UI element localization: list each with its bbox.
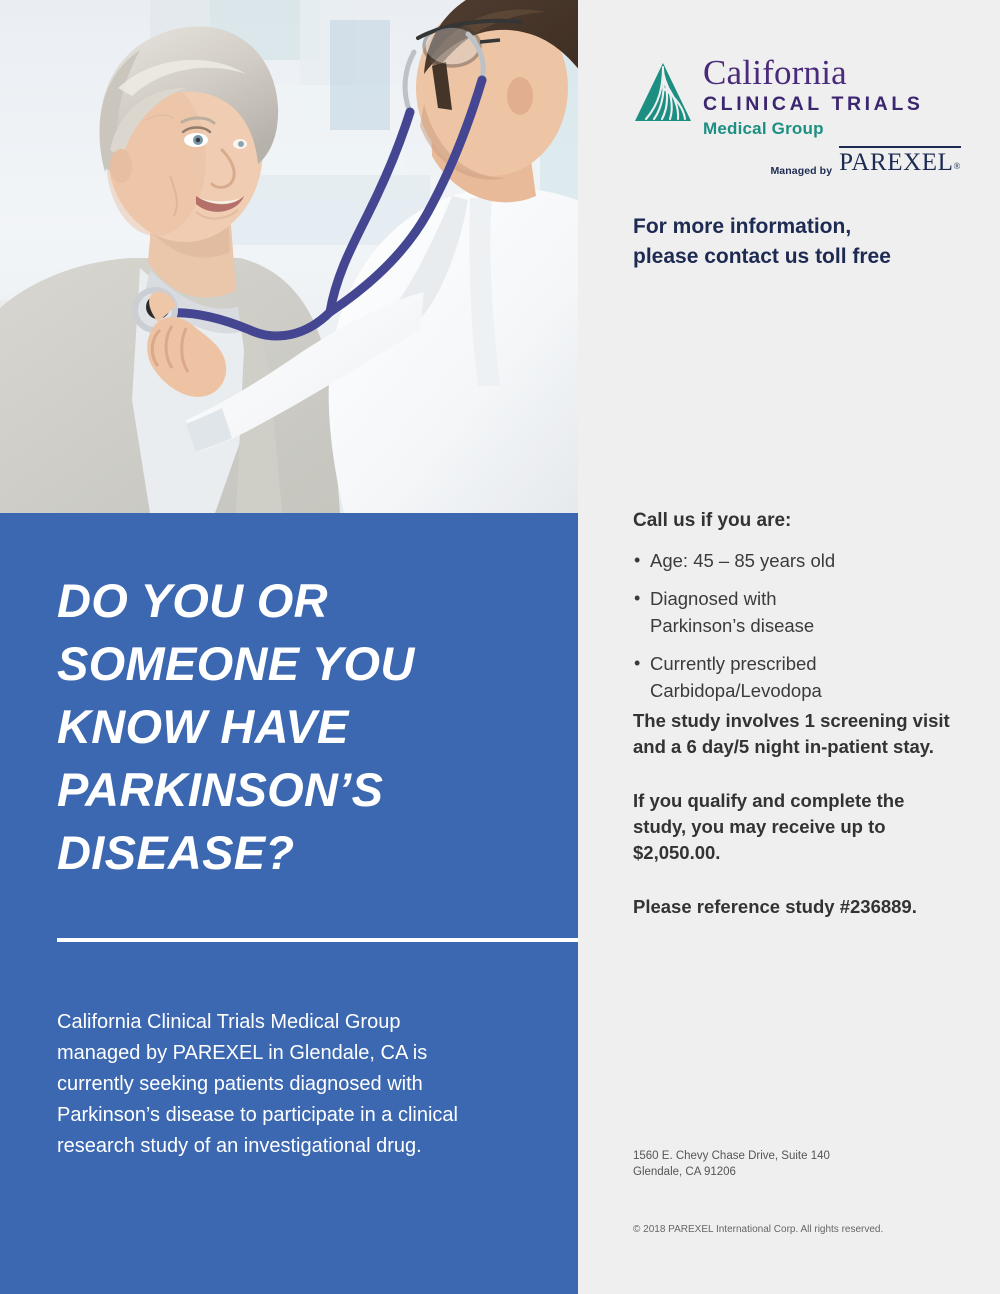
eligibility-item-0-line-1: Age: 45 – 85 years old xyxy=(650,547,983,574)
registered-trademark-icon: ® xyxy=(954,161,961,171)
headline-divider xyxy=(57,938,578,942)
brand-name-clinical-trials: CLINICAL TRIALS xyxy=(703,92,923,116)
compensation-amount: $2,050.00. xyxy=(633,840,963,866)
contact-line-2: please contact us toll free xyxy=(633,242,973,272)
study-details-section: The study involves 1 screening visit and… xyxy=(633,708,963,920)
bullet-icon: • xyxy=(634,547,640,574)
eligibility-list: • Age: 45 – 85 years old • Diagnosed wit… xyxy=(633,547,983,704)
patient-doctor-photo xyxy=(0,0,578,513)
study-reference-paragraph: Please reference study #236889. xyxy=(633,894,963,920)
study-intro-paragraph: California Clinical Trials Medical Group… xyxy=(57,1007,552,1162)
list-item: • Diagnosed with Parkinson’s disease xyxy=(633,585,983,639)
headline-panel: DO YOU OR SOMEONE YOU KNOW HAVE PARKINSO… xyxy=(0,513,578,1294)
logo-wordmark: California CLINICAL TRIALS Medical Group xyxy=(703,55,923,139)
eligibility-section: Call us if you are: • Age: 45 – 85 years… xyxy=(633,508,983,715)
parexel-text: PAREXEL xyxy=(839,149,953,176)
managed-by-row: Managed by PAREXEL® xyxy=(633,146,963,181)
headline-line-3: KNOW HAVE xyxy=(57,695,557,758)
parexel-wordmark: PAREXEL® xyxy=(839,149,961,176)
eligibility-item-1-line-1: Diagnosed with xyxy=(650,585,983,612)
brand-name-medical-group: Medical Group xyxy=(703,118,923,139)
intro-line-4: Parkinson’s disease to participate in a … xyxy=(57,1100,552,1131)
headline-line-4: PARKINSON’S xyxy=(57,758,557,821)
headline-line-5: DISEASE? xyxy=(57,821,557,884)
intro-line-5: research study of an investigational dru… xyxy=(57,1131,552,1162)
left-column: DO YOU OR SOMEONE YOU KNOW HAVE PARKINSO… xyxy=(0,0,578,1294)
study-visit-paragraph: The study involves 1 screening visit and… xyxy=(633,708,963,760)
contact-heading: For more information, please contact us … xyxy=(633,212,973,272)
eligibility-item-1-line-2: Parkinson’s disease xyxy=(650,612,983,639)
logo-row: California CLINICAL TRIALS Medical Group xyxy=(633,55,963,139)
intro-line-1: California Clinical Trials Medical Group xyxy=(57,1007,552,1038)
site-address: 1560 E. Chevy Chase Drive, Suite 140 Gle… xyxy=(633,1148,973,1180)
right-column: California CLINICAL TRIALS Medical Group… xyxy=(578,0,1000,1294)
contact-line-1: For more information, xyxy=(633,212,973,242)
copyright-notice: © 2018 PAREXEL International Corp. All r… xyxy=(633,1223,993,1237)
list-item: • Age: 45 – 85 years old xyxy=(633,547,983,574)
intro-line-2: managed by PAREXEL in Glendale, CA is xyxy=(57,1038,552,1069)
page-headline: DO YOU OR SOMEONE YOU KNOW HAVE PARKINSO… xyxy=(57,569,557,884)
parexel-rule: PAREXEL® xyxy=(839,146,961,181)
eligibility-title: Call us if you are: xyxy=(633,508,983,534)
eligibility-item-2-line-1: Currently prescribed xyxy=(650,650,983,677)
intro-line-3: currently seeking patients diagnosed wit… xyxy=(57,1069,552,1100)
compensation-paragraph: If you qualify and complete the study, y… xyxy=(633,788,963,866)
headline-line-2: SOMEONE YOU xyxy=(57,632,557,695)
toll-free-phone-number[interactable] xyxy=(633,290,973,485)
bullet-icon: • xyxy=(634,650,640,677)
visit-line-1: The study involves 1 screening visit xyxy=(633,708,963,734)
eligibility-item-2-line-2: Carbidopa/Levodopa xyxy=(650,677,983,704)
headline-line-1: DO YOU OR xyxy=(57,569,557,632)
brand-logo: California CLINICAL TRIALS Medical Group… xyxy=(633,55,963,181)
brand-name-california: California xyxy=(703,55,923,91)
address-line-2: Glendale, CA 91206 xyxy=(633,1164,973,1180)
visit-line-2: and a 6 day/5 night in-patient stay. xyxy=(633,734,963,760)
managed-by-label: Managed by xyxy=(770,165,832,177)
clinical-trial-flyer: DO YOU OR SOMEONE YOU KNOW HAVE PARKINSO… xyxy=(0,0,1000,1294)
address-line-1: 1560 E. Chevy Chase Drive, Suite 140 xyxy=(633,1148,973,1164)
compensation-line-2: study, you may receive up to xyxy=(633,814,963,840)
bullet-icon: • xyxy=(634,585,640,612)
fan-triangle-icon xyxy=(633,61,693,123)
list-item: • Currently prescribed Carbidopa/Levodop… xyxy=(633,650,983,704)
study-reference-number: Please reference study #236889. xyxy=(633,894,963,920)
compensation-line-1: If you qualify and complete the xyxy=(633,788,963,814)
